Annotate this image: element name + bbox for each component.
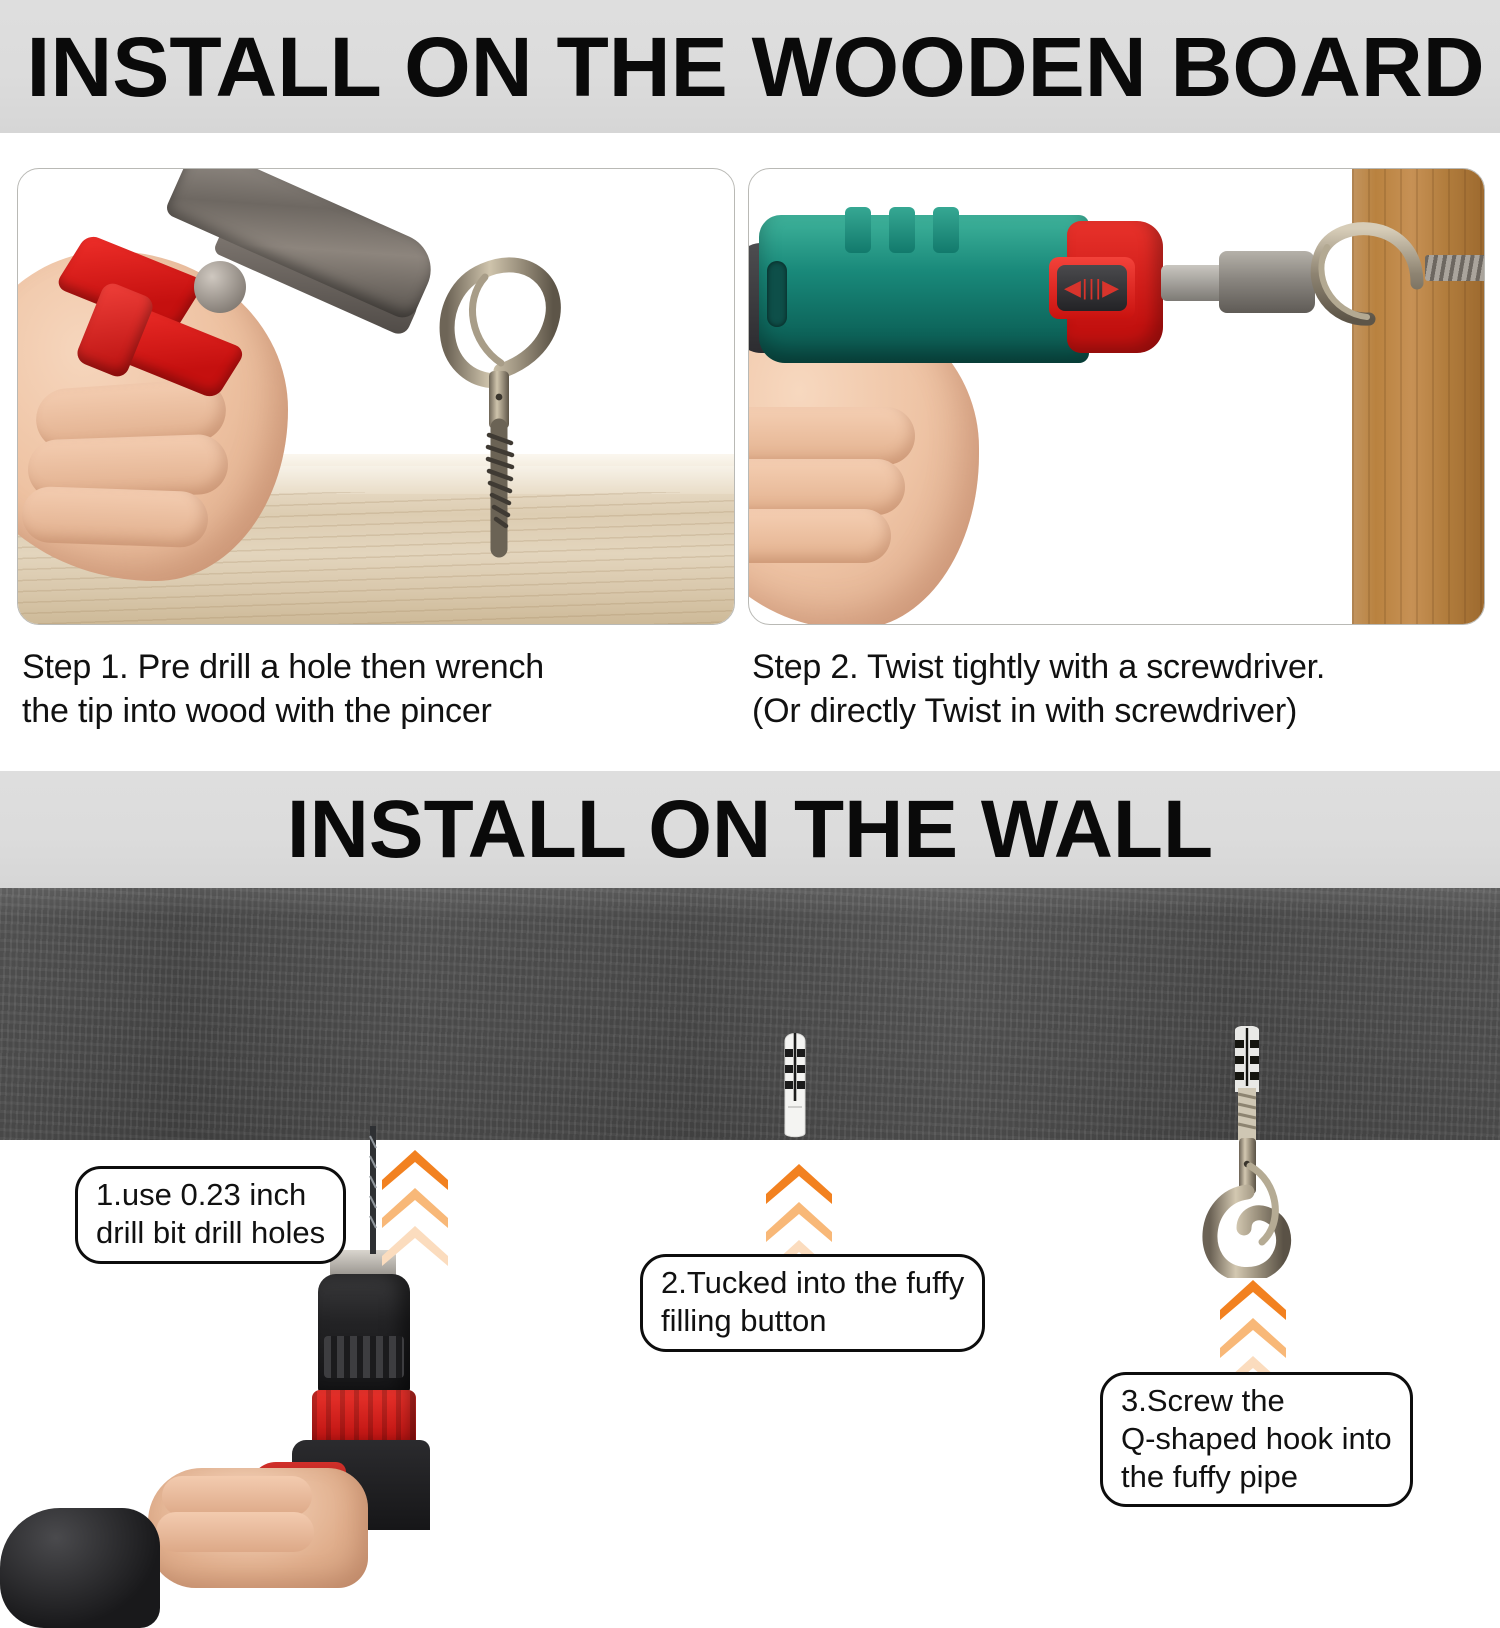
finger	[156, 1512, 314, 1552]
step-2-photo-panel: ◀|||▶	[748, 168, 1485, 625]
callout-2-line-1: 2.Tucked into the fuffy	[661, 1264, 964, 1302]
infographic-page: INSTALL ON THE WOODEN BOARD	[0, 0, 1500, 1500]
step-1-caption-line-2: the tip into wood with the pincer	[22, 689, 732, 733]
chevron-up-icon	[378, 1222, 452, 1268]
section-header-wall: INSTALL ON THE WALL	[0, 771, 1500, 888]
section-title-wall: INSTALL ON THE WALL	[287, 789, 1213, 871]
step-1-caption-line-1: Step 1. Pre drill a hole then wrench	[22, 645, 732, 689]
finger	[748, 407, 915, 465]
callout-3-line-3: the fuffy pipe	[1121, 1458, 1392, 1496]
wooden-board-section: ◀|||▶	[0, 133, 1500, 771]
step-2-caption-line-1: Step 2. Twist tightly with a screwdriver…	[752, 645, 1492, 689]
electric-screwdriver-body	[759, 215, 1089, 363]
cordless-drill-icon	[0, 1240, 430, 1502]
direction-switch-arrows-icon: ◀|||▶	[1057, 265, 1127, 311]
chevron-arrows-step-1	[378, 1146, 452, 1270]
drill-top-rib	[845, 207, 871, 253]
step-2-caption-line-2: (Or directly Twist in with screwdriver)	[752, 689, 1492, 733]
section-header-wooden-board: INSTALL ON THE WOODEN BOARD	[0, 0, 1500, 133]
hook-screw-thread	[1425, 255, 1485, 281]
direction-switch: ◀|||▶	[1049, 257, 1135, 319]
step-2-caption: Step 2. Twist tightly with a screwdriver…	[752, 645, 1492, 733]
drill-top-rib	[933, 207, 959, 253]
callout-2-line-2: filling button	[661, 1302, 964, 1340]
callout-drill-holes: 1.use 0.23 inch drill bit drill holes	[75, 1166, 346, 1264]
drill-vent-slot	[767, 261, 787, 327]
section-title-wooden-board: INSTALL ON THE WOODEN BOARD	[0, 25, 1485, 109]
callout-1-line-1: 1.use 0.23 inch	[96, 1176, 325, 1214]
callout-3-line-1: 3.Screw the	[1121, 1382, 1392, 1420]
finger	[162, 1476, 312, 1516]
step-1-photo-panel	[17, 168, 735, 625]
drill-battery	[0, 1508, 160, 1628]
q-shaped-hook-screw-icon	[423, 231, 573, 561]
drill-chuck	[318, 1274, 410, 1394]
drill-top-rib	[889, 207, 915, 253]
callout-1-line-2: drill bit drill holes	[96, 1214, 325, 1252]
pliers-pivot	[194, 261, 246, 313]
callout-3-line-2: Q-shaped hook into	[1121, 1420, 1392, 1458]
finger	[748, 509, 891, 563]
callout-tuck-anchor: 2.Tucked into the fuffy filling button	[640, 1254, 985, 1352]
finger	[21, 486, 209, 548]
finger	[748, 459, 905, 515]
q-shaped-hook-icon	[1297, 209, 1457, 359]
q-shaped-hook-with-anchor-icon	[1192, 1026, 1302, 1278]
step-1-caption: Step 1. Pre drill a hole then wrench the…	[22, 645, 732, 733]
callout-screw-hook: 3.Screw the Q-shaped hook into the fuffy…	[1100, 1372, 1413, 1507]
wall-anchor-plug-icon	[780, 1027, 810, 1139]
